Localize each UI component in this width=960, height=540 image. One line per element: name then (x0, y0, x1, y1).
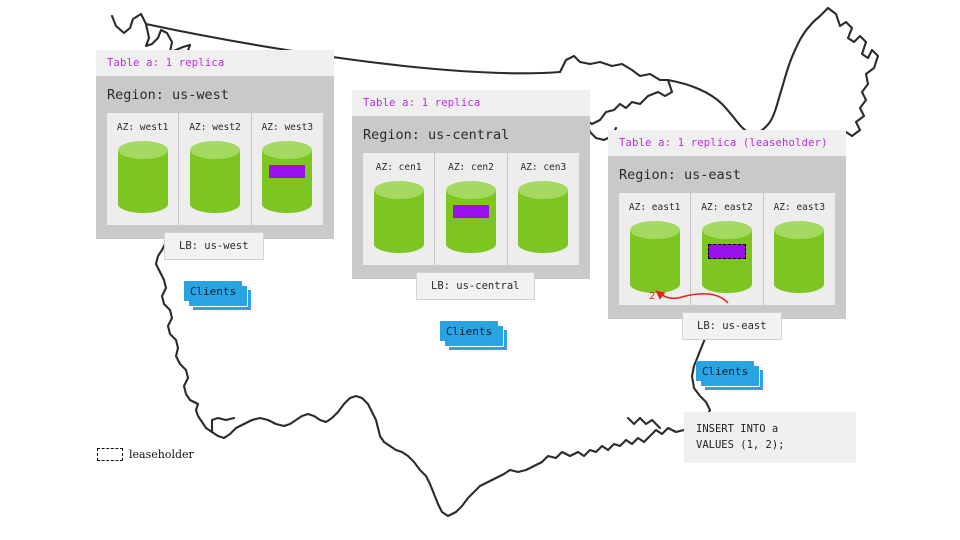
clients-button-us-central[interactable]: Clients (440, 321, 498, 341)
az-label-west1: AZ: west1 (117, 122, 168, 133)
db-node-top-icon (518, 181, 568, 199)
az-label-cen2: AZ: cen2 (448, 162, 494, 173)
az-row-us-central: AZ: cen1 AZ: cen2 AZ: cen3 (363, 153, 579, 265)
db-node-top-icon (374, 181, 424, 199)
panel-body-us-central: Region: us-central AZ: cen1 AZ: cen2 (352, 116, 590, 279)
panel-header-us-east: Table a: 1 replica (leaseholder) (608, 130, 846, 156)
db-node-cen3[interactable] (518, 181, 568, 253)
db-node-top-icon (262, 141, 312, 159)
az-row-us-west: AZ: west1 AZ: west2 AZ: west3 (107, 113, 323, 225)
region-title-us-west: Region: us-west (107, 76, 323, 113)
db-node-east2[interactable] (702, 221, 752, 293)
region-panel-us-central: Table a: 1 replica Region: us-central AZ… (352, 90, 590, 279)
az-label-east2: AZ: east2 (701, 202, 752, 213)
db-node-body-icon (262, 150, 312, 213)
az-cell-cen2[interactable]: AZ: cen2 (435, 153, 507, 265)
az-cell-cen3[interactable]: AZ: cen3 (508, 153, 579, 265)
db-node-body-icon (518, 190, 568, 253)
panel-header-us-central: Table a: 1 replica (352, 90, 590, 116)
db-node-top-icon (190, 141, 240, 159)
az-cell-east3[interactable]: AZ: east3 (764, 193, 835, 305)
db-node-top-icon (446, 181, 496, 199)
db-node-body-icon (446, 190, 496, 253)
panel-body-us-east: Region: us-east AZ: east1 AZ: east2 (608, 156, 846, 319)
db-node-cen1[interactable] (374, 181, 424, 253)
region-panel-us-east: Table a: 1 replica (leaseholder) Region:… (608, 130, 846, 319)
legend-leaseholder-label: leaseholder (129, 448, 194, 461)
leaseholder-swatch-icon (97, 448, 123, 461)
clients-button-us-west[interactable]: Clients (184, 281, 242, 301)
az-cell-west3[interactable]: AZ: west3 (252, 113, 323, 225)
az-cell-cen1[interactable]: AZ: cen1 (363, 153, 435, 265)
replica-block-east2-leaseholder (708, 244, 746, 259)
db-node-cen2[interactable] (446, 181, 496, 253)
az-cell-east2[interactable]: AZ: east2 (691, 193, 763, 305)
db-node-top-icon (630, 221, 680, 239)
clients-stack-us-west[interactable]: Clients (184, 281, 252, 311)
region-title-us-east: Region: us-east (619, 156, 835, 193)
replica-block-cen2 (453, 205, 489, 218)
db-node-east3[interactable] (774, 221, 824, 293)
az-label-east3: AZ: east3 (774, 202, 825, 213)
db-node-body-icon (774, 230, 824, 293)
db-node-body-icon (118, 150, 168, 213)
az-cell-west1[interactable]: AZ: west1 (107, 113, 179, 225)
az-cell-west2[interactable]: AZ: west2 (179, 113, 251, 225)
az-cell-east1[interactable]: AZ: east1 (619, 193, 691, 305)
sql-statement-callout: INSERT INTO a VALUES (1, 2); (684, 412, 856, 463)
region-panel-us-west: Table a: 1 replica Region: us-west AZ: w… (96, 50, 334, 239)
arrow-step-label: 2 (649, 291, 655, 302)
load-balancer-us-east[interactable]: LB: us-east (682, 312, 782, 340)
region-title-us-central: Region: us-central (363, 116, 579, 153)
replica-block-west3 (269, 165, 305, 178)
clients-stack-us-central[interactable]: Clients (440, 321, 508, 351)
db-node-body-icon (630, 230, 680, 293)
db-node-top-icon (774, 221, 824, 239)
load-balancer-us-central[interactable]: LB: us-central (416, 272, 535, 300)
db-node-top-icon (702, 221, 752, 239)
db-node-top-icon (118, 141, 168, 159)
panel-body-us-west: Region: us-west AZ: west1 AZ: west2 (96, 76, 334, 239)
az-label-west2: AZ: west2 (189, 122, 240, 133)
db-node-west2[interactable] (190, 141, 240, 213)
load-balancer-us-west[interactable]: LB: us-west (164, 232, 264, 260)
diagram-canvas: Table a: 1 replica Region: us-west AZ: w… (0, 0, 960, 540)
clients-button-us-east[interactable]: Clients (696, 361, 754, 381)
legend-leaseholder: leaseholder (97, 448, 194, 461)
db-node-body-icon (702, 230, 752, 293)
clients-stack-us-east[interactable]: Clients (696, 361, 764, 391)
panel-header-us-west: Table a: 1 replica (96, 50, 334, 76)
db-node-west3[interactable] (262, 141, 312, 213)
db-node-body-icon (190, 150, 240, 213)
az-label-cen3: AZ: cen3 (520, 162, 566, 173)
az-label-cen1: AZ: cen1 (376, 162, 422, 173)
az-row-us-east: AZ: east1 AZ: east2 AZ: east3 (619, 193, 835, 305)
az-label-east1: AZ: east1 (629, 202, 680, 213)
db-node-west1[interactable] (118, 141, 168, 213)
db-node-body-icon (374, 190, 424, 253)
az-label-west3: AZ: west3 (262, 122, 313, 133)
db-node-east1[interactable] (630, 221, 680, 293)
